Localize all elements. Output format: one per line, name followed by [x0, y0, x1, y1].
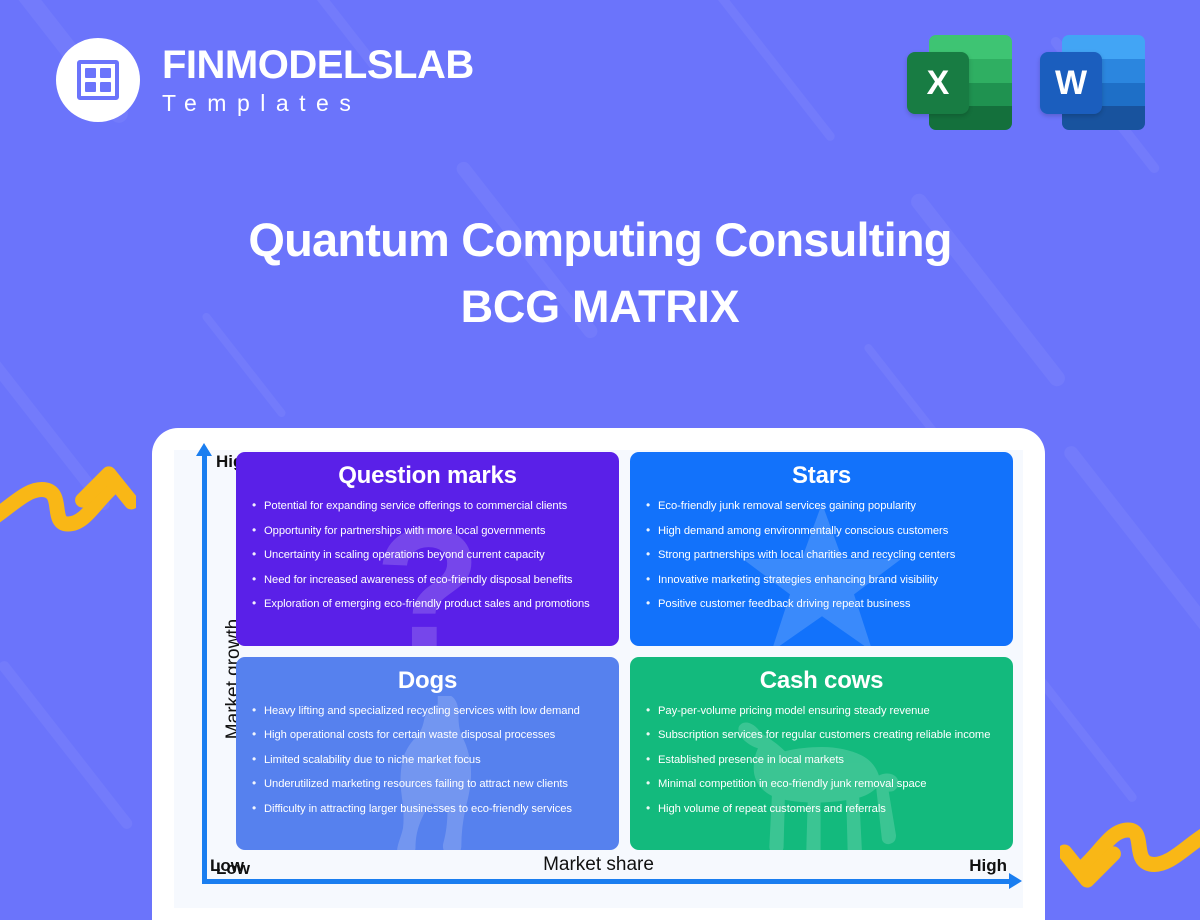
office-format-icons: X W [907, 30, 1145, 130]
list-item: Pay-per-volume pricing model ensuring st… [644, 704, 999, 718]
quadrant-stars[interactable]: Stars Eco-friendly junk removal services… [630, 452, 1013, 646]
quadrant-title: Cash cows [644, 667, 999, 695]
quadrant-bullet-list: Eco-friendly junk removal services gaini… [644, 499, 999, 611]
grid-logo-icon [56, 38, 140, 122]
quadrant-title: Dogs [250, 667, 605, 695]
list-item: High volume of repeat customers and refe… [644, 802, 999, 816]
list-item: Innovative marketing strategies enhancin… [644, 573, 999, 587]
page-subtitle: BCG MATRIX [0, 282, 1200, 332]
squiggle-arrow-up-right [0, 442, 136, 534]
list-item: Opportunity for partnerships with more l… [250, 524, 605, 538]
list-item: Potential for expanding service offering… [250, 499, 605, 513]
word-icon-letter: W [1055, 64, 1087, 103]
brand-tagline: Templates [162, 92, 474, 115]
word-icon[interactable]: W [1040, 30, 1145, 130]
list-item: Minimal competition in eco-friendly junk… [644, 777, 999, 791]
quadrant-grid: ? Question marks Potential for expanding… [236, 452, 1013, 850]
list-item: Strong partnerships with local charities… [644, 548, 999, 562]
title-block: Quantum Computing Consulting BCG MATRIX [0, 212, 1200, 332]
excel-icon[interactable]: X [907, 30, 1012, 130]
squiggle-arrow-down-left [1060, 820, 1200, 912]
list-item: Positive customer feedback driving repea… [644, 597, 999, 611]
quadrant-cash-cows[interactable]: Cash cows Pay-per-volume pricing model e… [630, 657, 1013, 851]
brand-name: FINMODELSLAB [162, 45, 474, 85]
quadrant-bullet-list: Potential for expanding service offering… [250, 499, 605, 611]
page-title: Quantum Computing Consulting [0, 212, 1200, 267]
quadrant-dogs[interactable]: Dogs Heavy lifting and specialized recyc… [236, 657, 619, 851]
quadrant-bullet-list: Heavy lifting and specialized recycling … [250, 704, 605, 816]
excel-icon-letter: X [927, 64, 950, 103]
list-item: Difficulty in attracting larger business… [250, 802, 605, 816]
quadrant-question-marks[interactable]: ? Question marks Potential for expanding… [236, 452, 619, 646]
list-item: Established presence in local markets [644, 753, 999, 767]
x-axis-label: Market share [174, 854, 1023, 876]
list-item: Heavy lifting and specialized recycling … [250, 704, 605, 718]
brand-logo[interactable]: FINMODELSLAB Templates [56, 38, 474, 122]
quadrant-bullet-list: Pay-per-volume pricing model ensuring st… [644, 704, 999, 816]
list-item: Underutilized marketing resources failin… [250, 777, 605, 791]
list-item: Limited scalability due to niche market … [250, 753, 605, 767]
y-axis-arrow [202, 454, 207, 884]
list-item: Eco-friendly junk removal services gaini… [644, 499, 999, 513]
x-axis-arrow [202, 879, 1011, 884]
quadrant-title: Question marks [250, 462, 605, 490]
bcg-matrix-card: High Low Market growth Low Market share … [152, 428, 1045, 920]
list-item: High demand among environmentally consci… [644, 524, 999, 538]
list-item: Need for increased awareness of eco-frie… [250, 573, 605, 587]
quadrant-title: Stars [644, 462, 999, 490]
list-item: Exploration of emerging eco-friendly pro… [250, 597, 605, 611]
x-axis-high-label: High [969, 856, 1007, 876]
page-header: FINMODELSLAB Templates X W [0, 0, 1200, 160]
list-item: High operational costs for certain waste… [250, 728, 605, 742]
list-item: Subscription services for regular custom… [644, 728, 999, 742]
list-item: Uncertainty in scaling operations beyond… [250, 548, 605, 562]
matrix-panel: High Low Market growth Low Market share … [174, 450, 1023, 908]
